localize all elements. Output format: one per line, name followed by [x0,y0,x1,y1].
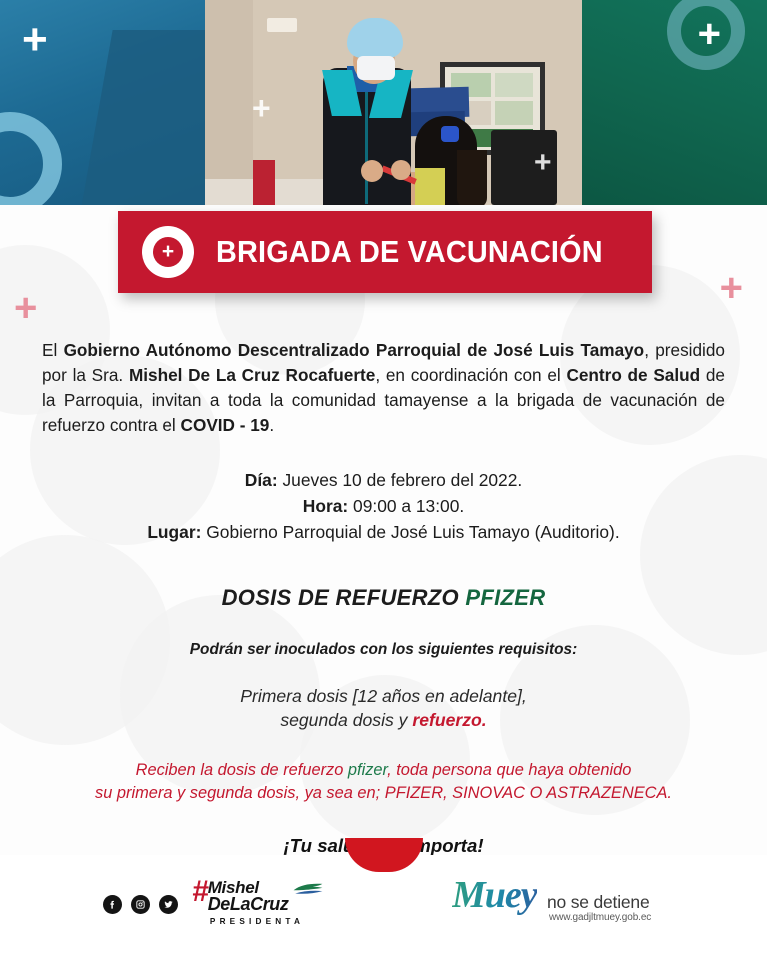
pfizer-inline: pfizer [348,761,387,779]
mishel-delacruz-logo: # Mishel DeLaCruz PRESIDENTA [192,880,322,926]
eligibility-line-2: su primera y segunda dosis, ya sea en; P… [0,782,767,805]
event-time-value: 09:00 a 13:00. [348,496,464,516]
eligibility-seg: Reciben la dosis de refuerzo [136,761,348,779]
red-arc-decoration [345,838,423,872]
hero-right-green-panel [582,0,767,205]
doses-block: Primera dosis [12 años en adelante], seg… [0,685,767,733]
event-details: Día: Jueves 10 de febrero del 2022. Hora… [0,468,767,545]
eligibility-paragraph: Reciben la dosis de refuerzo pfizer, tod… [0,759,767,806]
muey-logo-name: Muey [452,874,537,916]
photo-ceiling-light [267,18,297,32]
social-links [103,895,178,914]
photo-patient-hairtie [441,126,459,142]
photo-nurse-hand-left [361,160,383,182]
medical-cross-icon: + [142,226,194,278]
plus-icon: + [698,14,721,54]
page-title: BRIGADA DE VACUNACIÓN [216,234,603,270]
intro-health-center: Centro de Salud [566,365,700,385]
title-banner: + BRIGADA DE VACUNACIÓN [118,211,652,293]
booster-heading-text: DOSIS DE REFUERZO [222,585,466,610]
eligibility-seg: , toda persona que haya obtenido [387,761,631,779]
photo-nurse-zipper [365,92,368,204]
doses-line-2: segunda dosis y refuerzo. [0,709,767,733]
intro-paragraph: El Gobierno Autónomo Descentralizado Par… [42,338,725,438]
plus-icon: + [252,92,271,124]
pfizer-brand: PFIZER [465,585,545,610]
mishel-logo-row: # Mishel DeLaCruz [192,880,322,913]
event-day-value: Jueves 10 de febrero del 2022. [278,470,523,490]
green-swoosh-icon [292,882,324,897]
photo-board-poster [495,101,533,125]
event-time-row: Hora: 09:00 a 13:00. [0,494,767,520]
poster-content: El Gobierno Autónomo Descentralizado Par… [0,205,767,857]
mishel-logo-line2: DeLaCruz [208,896,289,913]
requirements-line: Podrán ser inoculados con los siguientes… [0,641,767,659]
photo-nurse-hand-right [391,160,411,180]
medical-cross-icon-inner: + [153,237,183,267]
hero-blue-ring-decoration [0,112,62,205]
photo-door [205,0,253,205]
twitter-icon[interactable] [159,895,178,914]
mishel-logo-words: Mishel DeLaCruz [208,880,289,913]
intro-seg: El [42,340,64,360]
plus-icon: + [22,18,48,62]
booster-highlight: refuerzo. [412,710,486,730]
instagram-icon[interactable] [131,895,150,914]
hero-banner: + + + + [0,0,767,205]
event-day-label: Día: [245,470,278,490]
plus-icon: + [534,148,552,178]
intro-president: Mishel De La Cruz Rocafuerte [129,365,375,385]
intro-org: Gobierno Autónomo Descentralizado Parroq… [64,340,645,360]
muey-logo: Muey no se detiene www.gadjltmuey.gob.ec [452,876,667,914]
photo-nurse-cap [347,18,403,58]
hashtag-icon: # [192,880,207,905]
doses-line-2-text: segunda dosis y [280,710,412,730]
plus-glyph: + [162,241,174,262]
mishel-logo-subtitle: PRESIDENTA [192,917,322,926]
event-place-row: Lugar: Gobierno Parroquial de José Luis … [0,520,767,546]
doses-line-1: Primera dosis [12 años en adelante], [0,685,767,709]
booster-heading: DOSIS DE REFUERZO PFIZER [0,585,767,611]
intro-seg: . [269,415,274,435]
photo-nurse-mask [357,56,395,80]
muey-logo-tagline: no se detiene [547,892,650,913]
muey-logo-url: www.gadjltmuey.gob.ec [549,912,651,923]
facebook-icon[interactable] [103,895,122,914]
photo-red-object [253,160,275,205]
event-time-label: Hora: [303,496,348,516]
intro-covid: COVID - 19 [181,415,270,435]
photo-board-poster [495,73,533,97]
intro-seg: , en coordinación con el [375,365,566,385]
event-place-value: Gobierno Parroquial de José Luis Tamayo … [201,522,619,542]
photo-patient-shirt [415,168,445,205]
event-day-row: Día: Jueves 10 de febrero del 2022. [0,468,767,494]
photo-patient-hair-back [457,150,487,205]
eligibility-line-1: Reciben la dosis de refuerzo pfizer, tod… [0,759,767,782]
event-place-label: Lugar: [147,522,201,542]
